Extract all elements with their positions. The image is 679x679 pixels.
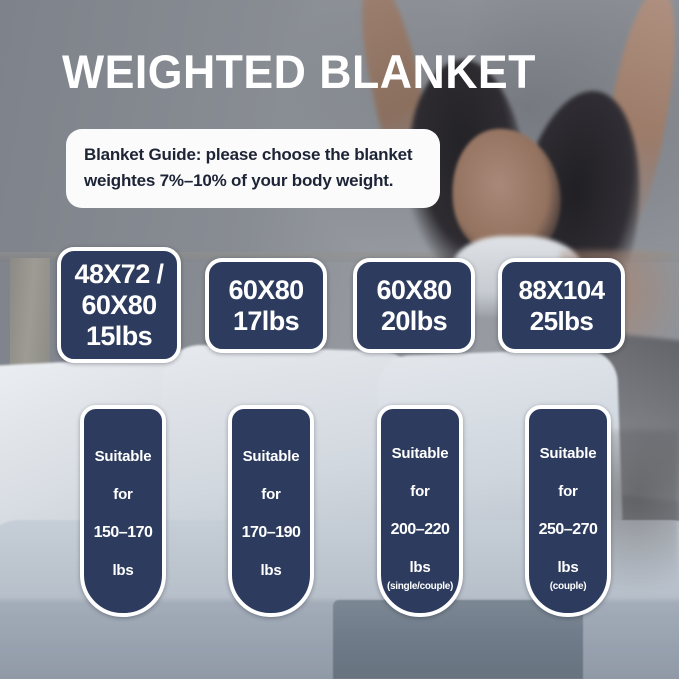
size-card-line: 88X104 xyxy=(518,275,604,306)
weighted-blanket-infographic: WEIGHTED BLANKET Blanket Guide: please c… xyxy=(0,0,679,679)
suitable-label: Suitable xyxy=(243,448,300,466)
weight-unit: lbs xyxy=(260,562,281,580)
size-card-weight: 17lbs xyxy=(233,306,299,337)
size-card[interactable]: 60X80 20lbs xyxy=(353,258,475,353)
size-card-weight: 25lbs xyxy=(530,306,594,337)
size-card-weight: 20lbs xyxy=(381,306,447,337)
guide-line-1: Blanket Guide: please choose the blanket xyxy=(84,142,422,168)
size-card[interactable]: 60X80 17lbs xyxy=(205,258,327,353)
suitable-label: Suitable xyxy=(392,445,449,463)
blanket-guide-callout: Blanket Guide: please choose the blanket… xyxy=(66,129,440,208)
size-card[interactable]: 48X72 / 60X80 15lbs xyxy=(57,247,181,363)
usage-note: (couple) xyxy=(550,581,587,593)
size-card-line: 60X80 xyxy=(228,275,303,306)
suitable-for-label: for xyxy=(410,483,429,501)
weight-range: 170–190 xyxy=(242,524,301,542)
suitable-for-label: for xyxy=(113,486,132,504)
page-title: WEIGHTED BLANKET xyxy=(62,47,536,97)
size-card-weight: 15lbs xyxy=(86,321,152,352)
suitable-panel[interactable]: Suitable for 250–270 lbs (couple) xyxy=(525,405,611,617)
guide-line-2: weightes 7%–10% of your body weight. xyxy=(84,168,422,194)
overlay-content: WEIGHTED BLANKET Blanket Guide: please c… xyxy=(0,0,679,679)
size-card-line: 48X72 / xyxy=(75,259,164,290)
size-card[interactable]: 88X104 25lbs xyxy=(498,258,625,353)
weight-unit: lbs xyxy=(409,559,430,577)
suitable-panel[interactable]: Suitable for 150–170 lbs xyxy=(80,405,166,617)
suitable-for-label: for xyxy=(261,486,280,504)
weight-unit: lbs xyxy=(557,559,578,577)
suitable-panel[interactable]: Suitable for 170–190 lbs xyxy=(228,405,314,617)
suitable-label: Suitable xyxy=(540,445,597,463)
size-card-line: 60X80 xyxy=(376,275,451,306)
suitable-panel[interactable]: Suitable for 200–220 lbs (single/couple) xyxy=(377,405,463,617)
size-card-line: 60X80 xyxy=(81,290,156,321)
weight-range: 250–270 xyxy=(539,521,598,539)
weight-range: 200–220 xyxy=(391,521,450,539)
suitable-for-label: for xyxy=(558,483,577,501)
usage-note: (single/couple) xyxy=(387,581,453,593)
weight-unit: lbs xyxy=(112,562,133,580)
suitable-label: Suitable xyxy=(95,448,152,466)
weight-range: 150–170 xyxy=(94,524,153,542)
